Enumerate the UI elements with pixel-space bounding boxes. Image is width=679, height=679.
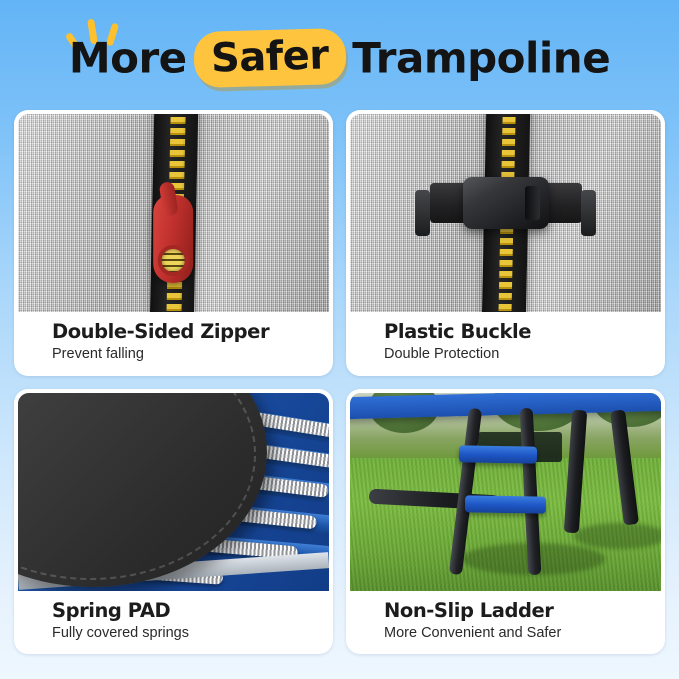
ladder-step-upper-icon — [459, 445, 537, 463]
page-title: MoreSaferTrampoline — [0, 30, 679, 86]
card-title: Double-Sided Zipper — [52, 321, 329, 343]
title-word-safer: Safer — [210, 32, 329, 81]
card-subtitle: Prevent falling — [52, 346, 329, 363]
buckle-caption: Plastic Buckle Double Protection — [350, 312, 661, 375]
spring-pad-photo — [18, 393, 329, 591]
zipper-pull-icon — [153, 195, 193, 283]
buckle-body-icon — [463, 177, 549, 229]
ladder-photo — [350, 393, 661, 591]
title-word-trampoline: Trampoline — [352, 34, 610, 83]
spring-pad-caption: Spring PAD Fully covered springs — [18, 591, 329, 654]
zipper-photo — [18, 114, 329, 312]
ladder-caption: Non-Slip Ladder More Convenient and Safe… — [350, 591, 661, 654]
card-title: Non-Slip Ladder — [384, 600, 661, 622]
zipper-caption: Double-Sided Zipper Prevent falling — [18, 312, 329, 375]
buckle-prong-right-icon — [581, 190, 596, 236]
ladder-step-lower-icon — [465, 495, 546, 513]
card-subtitle: Double Protection — [384, 346, 661, 363]
feature-card-grid: Double-Sided Zipper Prevent falling Plas… — [14, 110, 665, 654]
feature-card-ladder[interactable]: Non-Slip Ladder More Convenient and Safe… — [346, 389, 665, 655]
feature-card-zipper[interactable]: Double-Sided Zipper Prevent falling — [14, 110, 333, 376]
feature-card-spring-pad[interactable]: Spring PAD Fully covered springs — [14, 389, 333, 655]
title-highlight-pill: Safer — [193, 28, 346, 88]
card-subtitle: Fully covered springs — [52, 625, 329, 642]
card-title: Spring PAD — [52, 600, 329, 622]
buckle-prong-left-icon — [415, 190, 430, 236]
header-banner: MoreSaferTrampoline — [0, 0, 679, 104]
title-word-more: More — [69, 34, 187, 83]
feature-card-buckle[interactable]: Plastic Buckle Double Protection — [346, 110, 665, 376]
card-subtitle: More Convenient and Safer — [384, 625, 661, 642]
card-title: Plastic Buckle — [384, 321, 661, 343]
buckle-photo — [350, 114, 661, 312]
